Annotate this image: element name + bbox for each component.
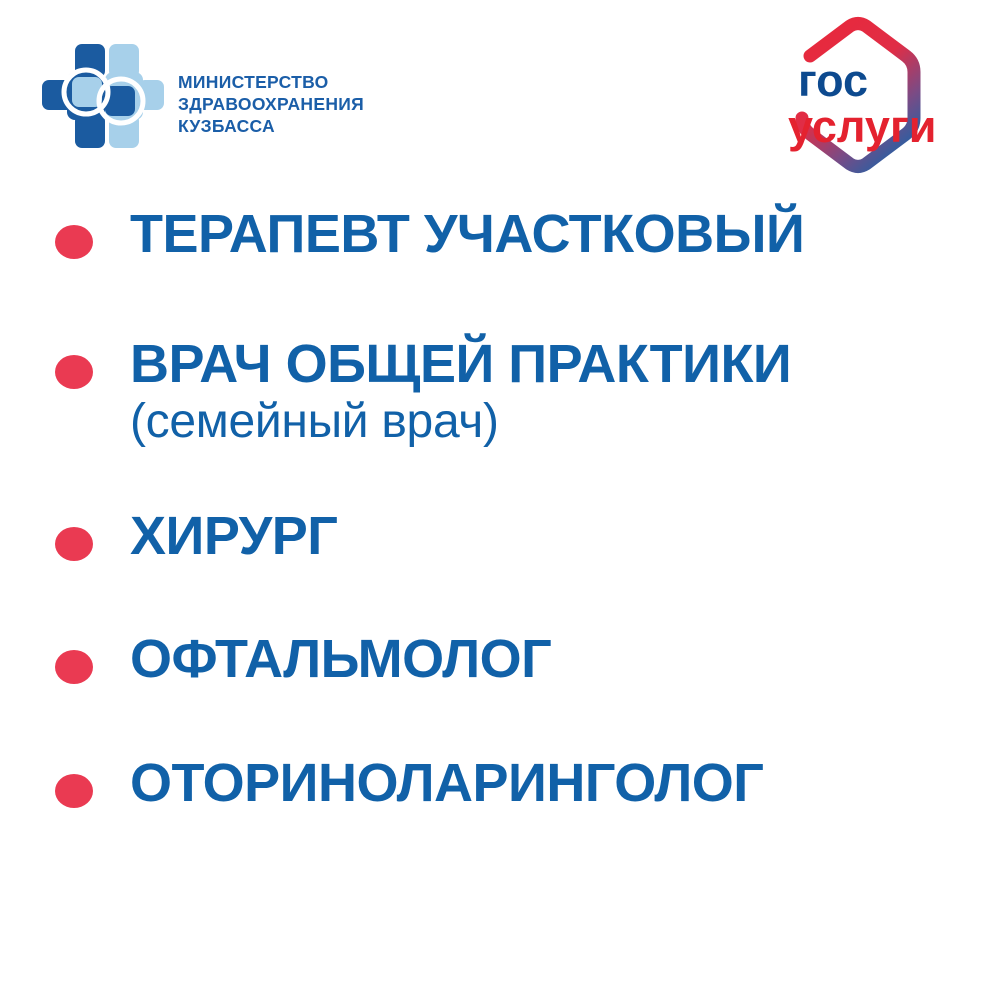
- header: МИНИСТЕРСТВО ЗДРАВООХРАНЕНИЯ КУЗБАССА: [0, 0, 1000, 190]
- bullet-icon: [55, 355, 93, 389]
- bullet-icon: [55, 225, 93, 259]
- poster-page: МИНИСТЕРСТВО ЗДРАВООХРАНЕНИЯ КУЗБАССА: [0, 0, 1000, 1000]
- ministry-title-line-2: ЗДРАВООХРАНЕНИЯ: [178, 94, 364, 114]
- list-item: ОТОРИНОЛАРИНГОЛОГ: [0, 754, 1000, 812]
- list-item-label: ВРАЧ ОБЩЕЙ ПРАКТИКИ: [130, 335, 1000, 393]
- list-item-label: ОТОРИНОЛАРИНГОЛОГ: [130, 754, 1000, 812]
- list-item-label: ТЕРАПЕВТ УЧАСТКОВЫЙ: [130, 205, 1000, 263]
- list-item-sublabel: (семейный врач): [130, 395, 1000, 449]
- ministry-cross-emblem-icon: [42, 44, 164, 148]
- list-item: ТЕРАПЕВТ УЧАСТКОВЫЙ: [0, 205, 1000, 263]
- gosuslugi-word-uslugi: услуги: [788, 101, 936, 152]
- ministry-title-line-3: КУЗБАССА: [178, 116, 364, 136]
- ministry-logo: МИНИСТЕРСТВО ЗДРАВООХРАНЕНИЯ КУЗБАССА: [42, 44, 364, 148]
- bullet-icon: [55, 774, 93, 808]
- list-item: ХИРУРГ: [0, 507, 1000, 565]
- list-item: ВРАЧ ОБЩЕЙ ПРАКТИКИ (семейный врач): [0, 335, 1000, 449]
- specialists-list: ТЕРАПЕВТ УЧАСТКОВЫЙ ВРАЧ ОБЩЕЙ ПРАКТИКИ …: [0, 205, 1000, 812]
- ministry-title-block: МИНИСТЕРСТВО ЗДРАВООХРАНЕНИЯ КУЗБАССА: [178, 56, 364, 136]
- bullet-icon: [55, 527, 93, 561]
- list-item-label: ХИРУРГ: [130, 507, 1000, 565]
- bullet-icon: [55, 650, 93, 684]
- list-item: ОФТАЛЬМОЛОГ: [0, 630, 1000, 688]
- list-item-label: ОФТАЛЬМОЛОГ: [130, 630, 1000, 688]
- gosuslugi-word-gos: гос: [798, 55, 868, 106]
- ministry-title-line-1: МИНИСТЕРСТВО: [178, 72, 364, 92]
- gosuslugi-logo: гос услуги: [772, 14, 944, 174]
